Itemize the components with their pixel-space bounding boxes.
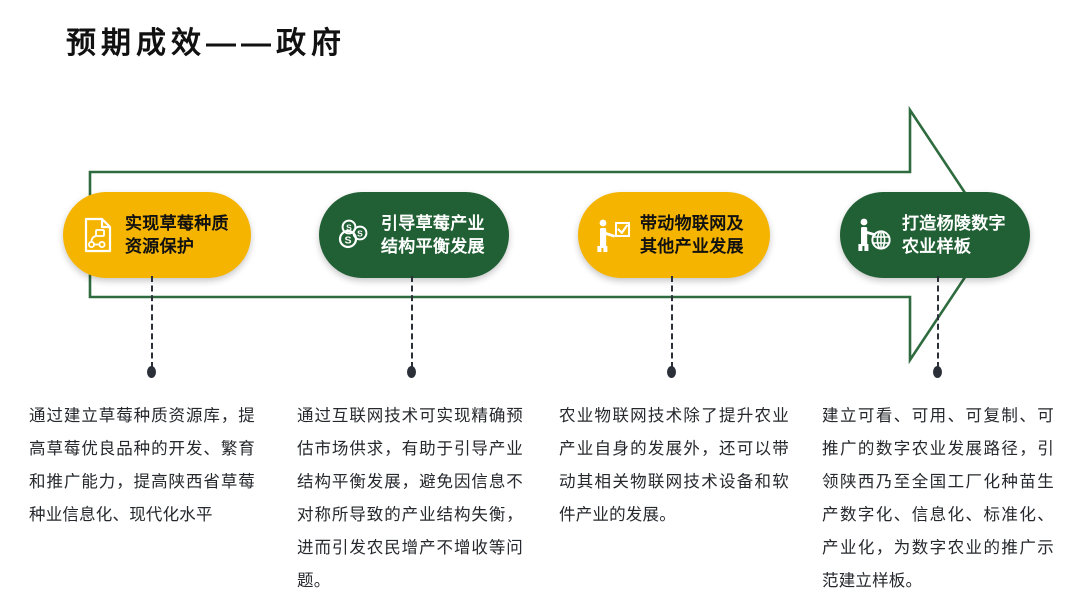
step-pill-2[interactable]: S S S 引导草莓产业 结构平衡发展	[319, 192, 509, 278]
connector-line-1	[151, 276, 153, 368]
step-pill-1[interactable]: 实现草莓种质 资源保护	[63, 192, 251, 278]
coins-money-icon: S S S	[333, 212, 375, 258]
connector-dot-2	[407, 366, 416, 378]
step-pill-3[interactable]: 带动物联网及 其他产业发展	[578, 192, 770, 278]
step-description-2: 通过互联网技术可实现精确预估市场供求，有助于引导产业结构平衡发展，避免因信息不对…	[297, 400, 523, 598]
step-pill-1-label: 实现草莓种质 资源保护	[125, 212, 229, 258]
person-checkbox-icon	[592, 212, 634, 258]
connector-dot-4	[933, 366, 942, 378]
step-pill-3-label: 带动物联网及 其他产业发展	[640, 212, 744, 258]
step-description-4: 建立可看、可用、可复制、可推广的数字农业发展路径，引领陕西乃至全国工厂化种苗生产…	[822, 400, 1054, 598]
svg-text:S: S	[344, 234, 351, 246]
connector-line-2	[411, 276, 413, 368]
person-globe-icon	[854, 212, 896, 258]
connector-dot-3	[667, 366, 676, 378]
step-pill-2-label: 引导草莓产业 结构平衡发展	[381, 212, 485, 258]
page-title: 预期成效——政府	[66, 18, 346, 62]
connector-line-3	[671, 276, 673, 368]
step-description-1: 通过建立草莓种质资源库，提高草莓优良品种的开发、繁育和推广能力，提高陕西省草莓种…	[29, 400, 255, 532]
connector-dot-1	[147, 366, 156, 378]
step-pill-4[interactable]: 打造杨陵数字 农业样板	[840, 192, 1030, 278]
step-description-3: 农业物联网技术除了提升农业产业自身的发展外，还可以带动其相关物联网技术设备和软件…	[559, 400, 789, 532]
svg-text:S: S	[357, 229, 363, 239]
connector-line-4	[937, 276, 939, 368]
step-pill-4-label: 打造杨陵数字 农业样板	[902, 212, 1006, 258]
document-network-icon	[77, 212, 119, 258]
